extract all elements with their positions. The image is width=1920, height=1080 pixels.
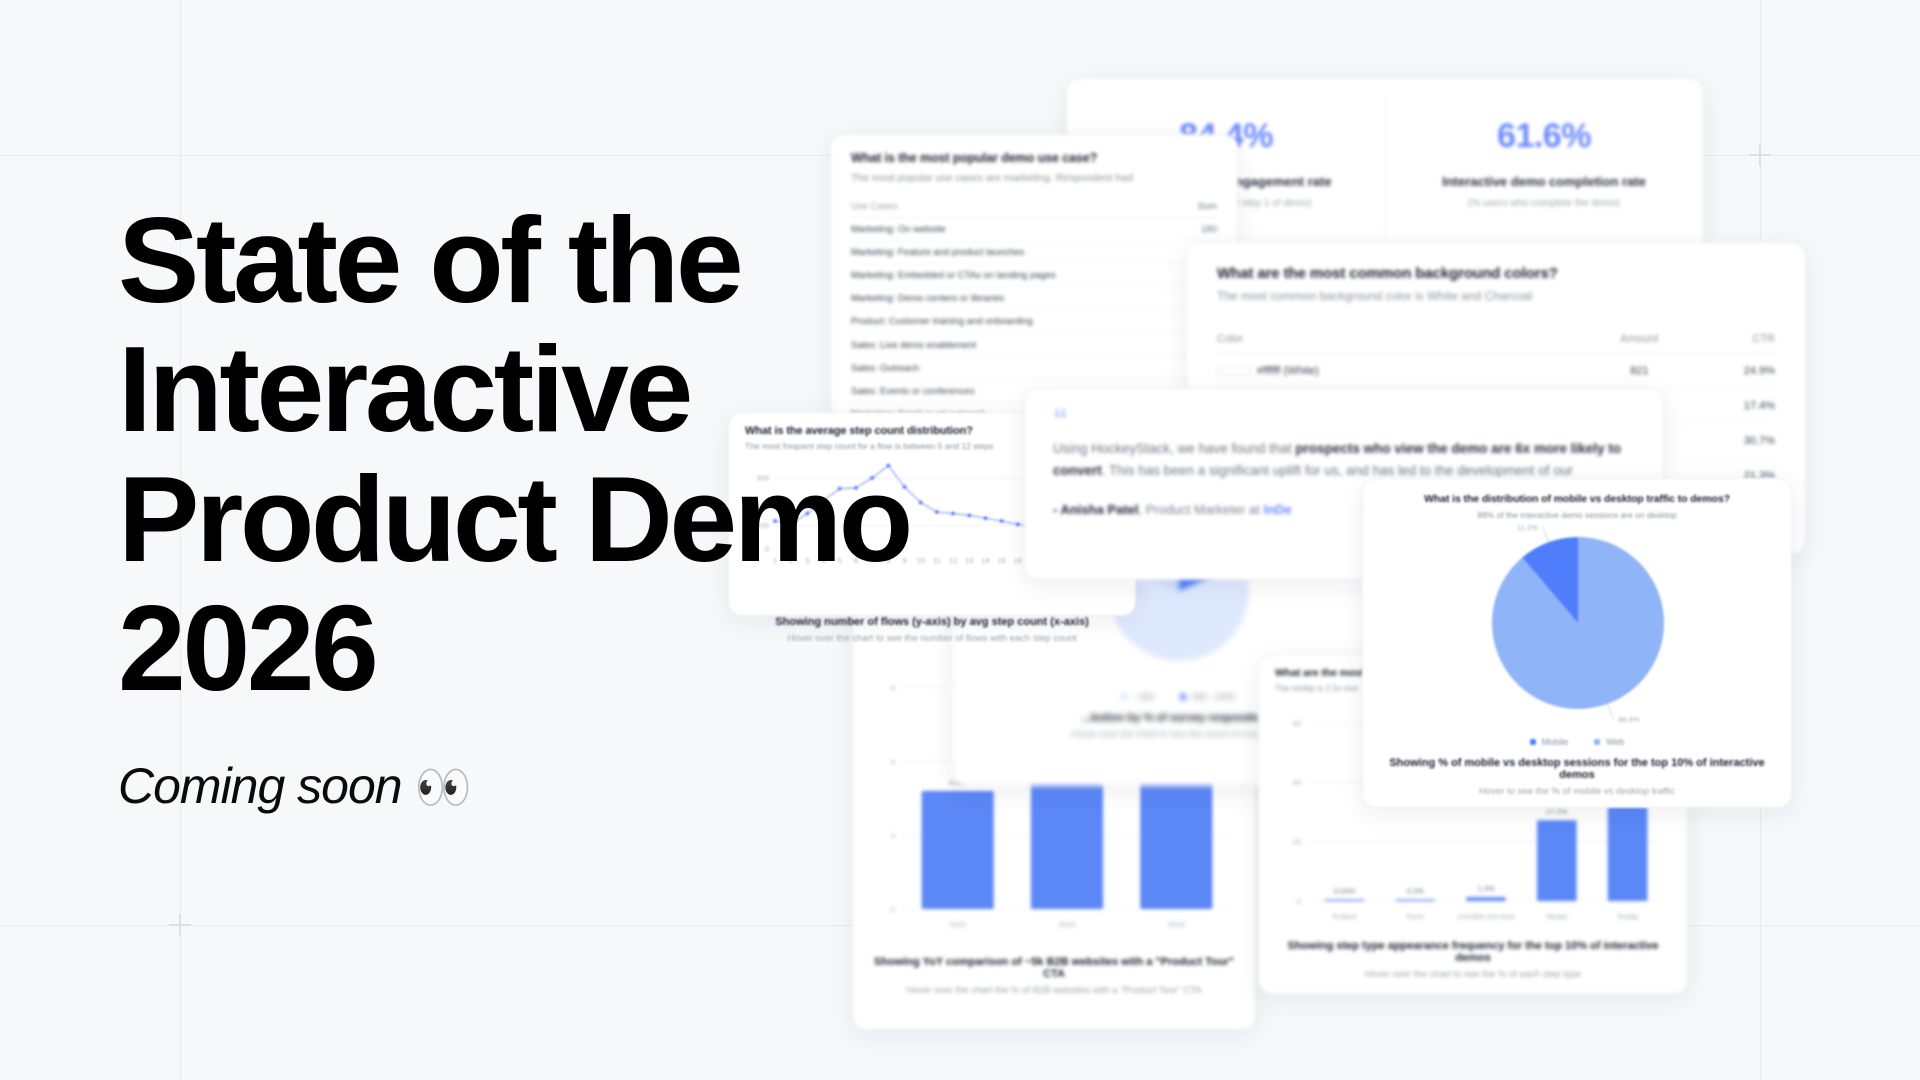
cell-ctr: 30.7% (1691, 424, 1775, 459)
svg-text:88.8%: 88.8% (1618, 715, 1640, 724)
hero-section: State of the Interactive Product Demo 20… (118, 196, 978, 815)
quote-company[interactable]: InDe (1263, 502, 1291, 517)
coming-soon-text: Coming soon (118, 758, 402, 814)
svg-text:2023: 2023 (1059, 920, 1076, 929)
legend-label: 250 - 1000 (1192, 692, 1235, 702)
legend-item[interactable]: - 250 (1121, 692, 1154, 702)
legend-dot-icon (1530, 739, 1536, 745)
footer-title: Showing step type appearance frequency f… (1275, 940, 1671, 964)
legend-label: Mobile (1542, 737, 1569, 747)
quote-segment: Using HockeyStack, we have found that (1053, 441, 1295, 456)
stat-note: (% users who complete the demo) (1468, 198, 1620, 209)
svg-text:0.03%: 0.03% (1334, 887, 1356, 896)
footer-subtitle: Hover over the chart the % of B2B websit… (869, 985, 1239, 996)
cell-sum: 180 (1185, 218, 1217, 241)
footer-subtitle: Hover to see the % of mobile vs desktop … (1381, 786, 1773, 797)
legend-label: Web (1606, 737, 1624, 747)
eyes-icon: 👀 (415, 761, 471, 813)
grid-crosshair-icon (169, 914, 191, 936)
legend-dot-icon (1594, 739, 1600, 745)
col-color: Color (1217, 325, 1588, 354)
hero-subtitle: Coming soon 👀 (118, 757, 978, 815)
cell-color: #ffffff (White) (1217, 354, 1588, 389)
color-name: #ffffff (White) (1257, 365, 1319, 377)
pie-legend: Mobile Web (1381, 737, 1773, 747)
footer-subtitle: Hover over the chart to see the % of eac… (1275, 969, 1671, 980)
svg-text:Embed: Embed (1333, 912, 1357, 921)
svg-text:27.2%: 27.2% (1546, 807, 1568, 816)
stat-label: Interactive demo completion rate (1442, 174, 1646, 189)
svg-text:2024: 2024 (1168, 920, 1185, 929)
col-amount: Amount (1588, 325, 1691, 354)
col-sum: Sum (1185, 196, 1217, 218)
footer-title: Showing YoY comparison of ~5k B2B websit… (869, 956, 1239, 980)
cell-ctr: 24.9% (1691, 354, 1775, 389)
quote-role: , Product Marketer at (1138, 502, 1263, 517)
mobile-vs-desktop-card[interactable]: What is the distribution of mobile vs de… (1362, 478, 1792, 808)
quote-segment: . This has been a significant uplift for… (1102, 463, 1573, 478)
card-title: What is the distribution of mobile vs de… (1381, 493, 1773, 505)
svg-text:3: 3 (891, 831, 895, 840)
cell-ctr: 17.4% (1691, 389, 1775, 424)
page-title: State of the Interactive Product Demo 20… (118, 196, 978, 713)
card-title: What are the most common background colo… (1217, 265, 1775, 282)
card-subtitle: 88% of the interactive demo sessions are… (1381, 510, 1773, 520)
card-title: What is the most popular demo use case? (851, 151, 1217, 165)
svg-text:40: 40 (1293, 778, 1301, 787)
quote-author: - Anisha Patel (1053, 502, 1138, 517)
card-subtitle: The most popular use cases are marketing… (851, 172, 1217, 184)
svg-text:16: 16 (1014, 556, 1022, 565)
svg-text:Invisible (no text): Invisible (no text) (1458, 912, 1515, 921)
mobile-desktop-pie-chart[interactable]: 88.8%11.2% (1381, 520, 1775, 726)
quote-mark-icon: “ (1053, 409, 1635, 430)
cell-amount: 821 (1588, 354, 1691, 389)
svg-text:20: 20 (1293, 838, 1301, 847)
svg-text:0: 0 (891, 905, 895, 914)
table-header-row: Color Amount CTR (1217, 325, 1775, 354)
legend-dot-icon (1121, 694, 1127, 700)
svg-text:0: 0 (1297, 897, 1301, 906)
svg-text:Modal: Modal (1547, 912, 1568, 921)
svg-text:1.3%: 1.3% (1477, 884, 1494, 893)
legend-dot-icon (1180, 694, 1186, 700)
landing-page-canvas: State of the Interactive Product Demo 20… (0, 0, 1920, 1080)
svg-text:60: 60 (1293, 719, 1301, 728)
grid-crosshair-icon (1749, 144, 1771, 166)
legend-item-mobile[interactable]: Mobile (1530, 737, 1569, 747)
footer-title: Showing % of mobile vs desktop sessions … (1381, 757, 1773, 781)
legend-item[interactable]: 250 - 1000 (1180, 692, 1235, 702)
svg-text:0.3%: 0.3% (1407, 887, 1424, 896)
table-row: #ffffff (White)82124.9% (1217, 354, 1775, 389)
stat-value: 61.6% (1497, 117, 1591, 156)
svg-text:11.2%: 11.2% (1517, 523, 1538, 532)
svg-text:15: 15 (997, 556, 1005, 565)
svg-text:Tooltip: Tooltip (1617, 912, 1639, 921)
quote-text: Using HockeyStack, we have found that pr… (1053, 438, 1635, 482)
svg-text:14: 14 (981, 556, 989, 565)
legend-item-web[interactable]: Web (1594, 737, 1624, 747)
color-swatch-icon (1217, 367, 1251, 375)
col-ctr: CTR (1691, 325, 1775, 354)
svg-text:Form: Form (1406, 912, 1424, 921)
card-subtitle: The most common background color is Whit… (1217, 289, 1775, 303)
legend-label: - 250 (1133, 692, 1154, 702)
svg-text:2022: 2022 (949, 920, 966, 929)
